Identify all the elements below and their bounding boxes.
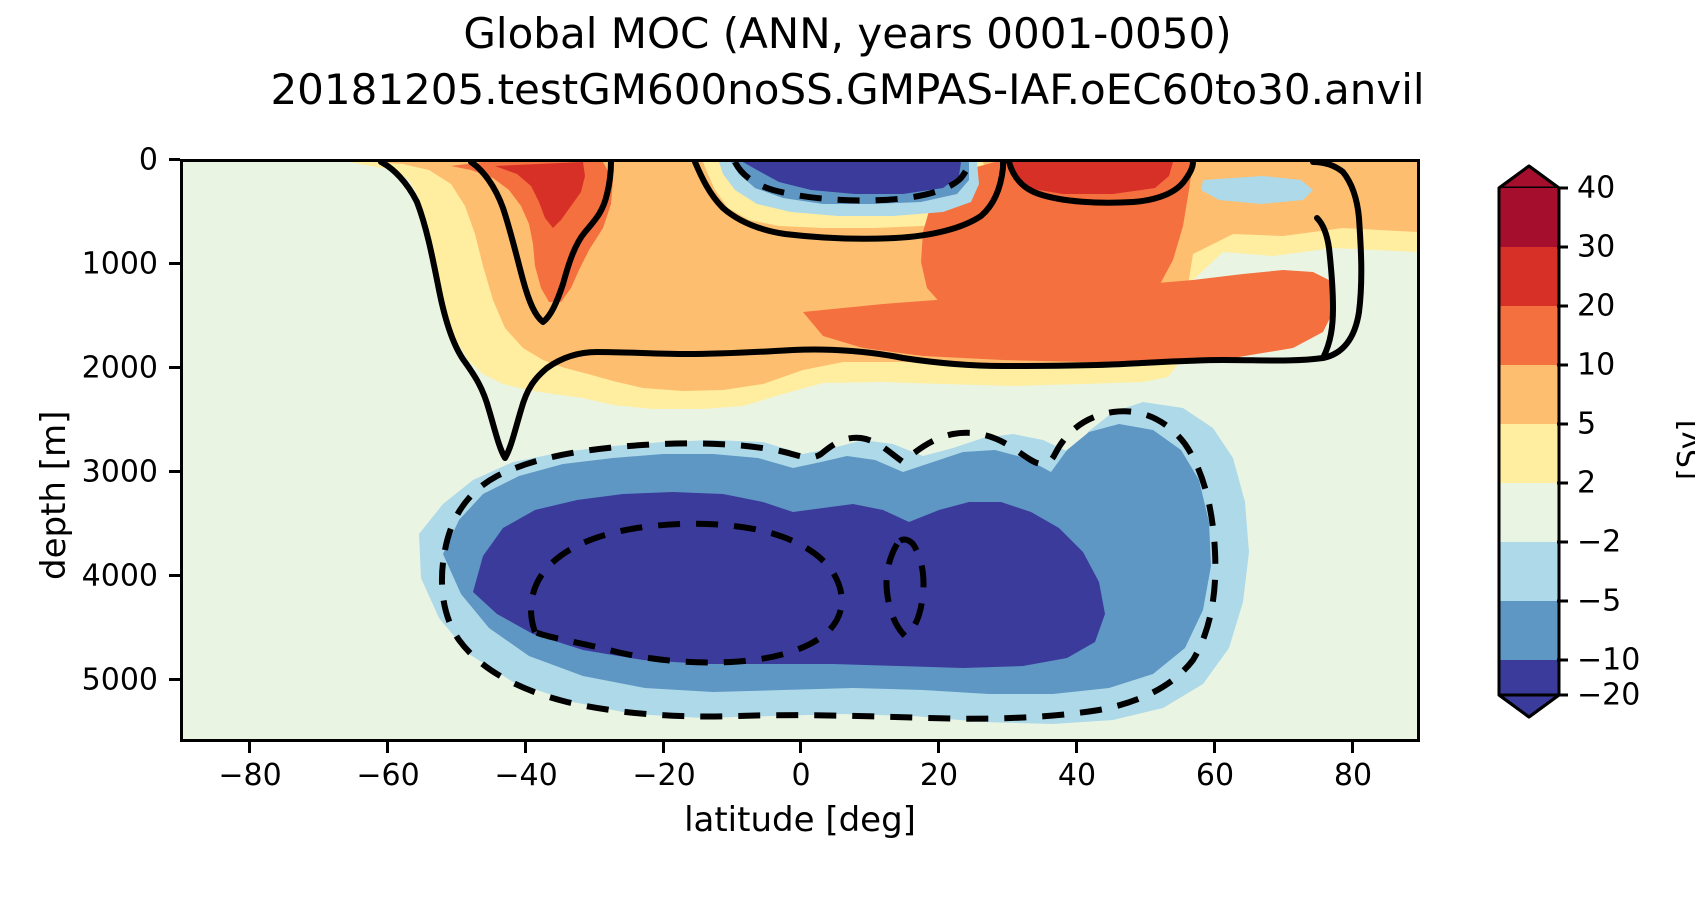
cbar-tick-n20 [1557, 694, 1568, 697]
cbar-tick-30 [1557, 246, 1568, 249]
ytick-mark-0 [169, 158, 180, 161]
ytick-mark-1000 [169, 262, 180, 265]
cbar-label-20: 20 [1577, 289, 1615, 324]
cbar-tick-5 [1557, 423, 1568, 426]
colorbar-band-neg20to10 [1499, 660, 1559, 695]
x-axis-title: latitude [deg] [684, 800, 916, 840]
colorbar-unit-label: [Sv] [1672, 420, 1695, 480]
xtick-mark-60 [1213, 742, 1216, 753]
cbar-tick-10 [1557, 364, 1568, 367]
colorbar-svg [1497, 160, 1561, 723]
cbar-label-5: 5 [1577, 407, 1596, 442]
y-axis-title: depth [m] [34, 411, 74, 580]
colorbar-band-5to10 [1499, 365, 1559, 424]
xtick-label-n80: −80 [218, 758, 281, 793]
ytick-mark-4000 [169, 574, 180, 577]
colorbar-extend-bottom [1499, 695, 1559, 717]
xtick-mark-n40 [524, 742, 527, 753]
contour-plot-svg [183, 162, 1417, 739]
cbar-tick-20 [1557, 305, 1568, 308]
xtick-mark-n60 [386, 742, 389, 753]
cbar-tick-2 [1557, 482, 1568, 485]
xtick-mark-n80 [248, 742, 251, 753]
colorbar-band-neg10to5 [1499, 601, 1559, 660]
xtick-label-20: 20 [920, 758, 958, 793]
colorbar-extend-top [1499, 166, 1559, 188]
xtick-mark-n20 [662, 742, 665, 753]
cbar-label-2: 2 [1577, 466, 1596, 501]
plot-area [180, 159, 1420, 742]
colorbar-band-2to5 [1499, 424, 1559, 483]
xtick-label-40: 40 [1058, 758, 1096, 793]
xtick-label-80: 80 [1334, 758, 1372, 793]
colorbar-band-20to30 [1499, 247, 1559, 306]
cbar-label-30: 30 [1577, 230, 1615, 265]
colorbar-band-neg5to2 [1499, 542, 1559, 601]
figure-title: Global MOC (ANN, years 0001-0050) 201812… [0, 6, 1695, 118]
colorbar-band-10to20 [1499, 306, 1559, 365]
cbar-label-n10: −10 [1577, 643, 1640, 678]
xtick-mark-40 [1075, 742, 1078, 753]
figure-canvas: Global MOC (ANN, years 0001-0050) 201812… [0, 0, 1695, 915]
cbar-tick-n2 [1557, 541, 1568, 544]
ytick-mark-3000 [169, 470, 180, 473]
colorbar-band-30to40 [1499, 188, 1559, 247]
contour-band-neg10to20-abyss [473, 492, 1105, 668]
cbar-label-10: 10 [1577, 348, 1615, 383]
cbar-tick-n5 [1557, 600, 1568, 603]
colorbar: 40 30 20 10 5 2 −2 −5 −10 −20 [Sv] [1497, 160, 1561, 723]
cbar-label-40: 40 [1577, 171, 1615, 206]
ytick-label-5000: 5000 [40, 663, 158, 698]
ytick-label-2000: 2000 [40, 351, 158, 386]
cbar-label-n5: −5 [1577, 584, 1621, 619]
title-line-1: Global MOC (ANN, years 0001-0050) [0, 6, 1695, 62]
xtick-label-n40: −40 [494, 758, 557, 793]
cbar-label-n20: −20 [1577, 678, 1640, 713]
cbar-label-n2: −2 [1577, 525, 1621, 560]
cbar-tick-40 [1557, 187, 1568, 190]
xtick-label-0: 0 [791, 758, 810, 793]
colorbar-band-neg2to2 [1499, 483, 1559, 542]
cbar-tick-n10 [1557, 659, 1568, 662]
xtick-mark-80 [1351, 742, 1354, 753]
title-line-2: 20181205.testGM600noSS.GMPAS-IAF.oEC60to… [0, 62, 1695, 118]
ytick-mark-5000 [169, 678, 180, 681]
ytick-label-1000: 1000 [40, 247, 158, 282]
xtick-mark-0 [799, 742, 802, 753]
xtick-mark-20 [937, 742, 940, 753]
xtick-label-n20: −20 [632, 758, 695, 793]
ytick-mark-2000 [169, 366, 180, 369]
xtick-label-60: 60 [1196, 758, 1234, 793]
ytick-label-0: 0 [40, 143, 158, 178]
xtick-label-n60: −60 [356, 758, 419, 793]
